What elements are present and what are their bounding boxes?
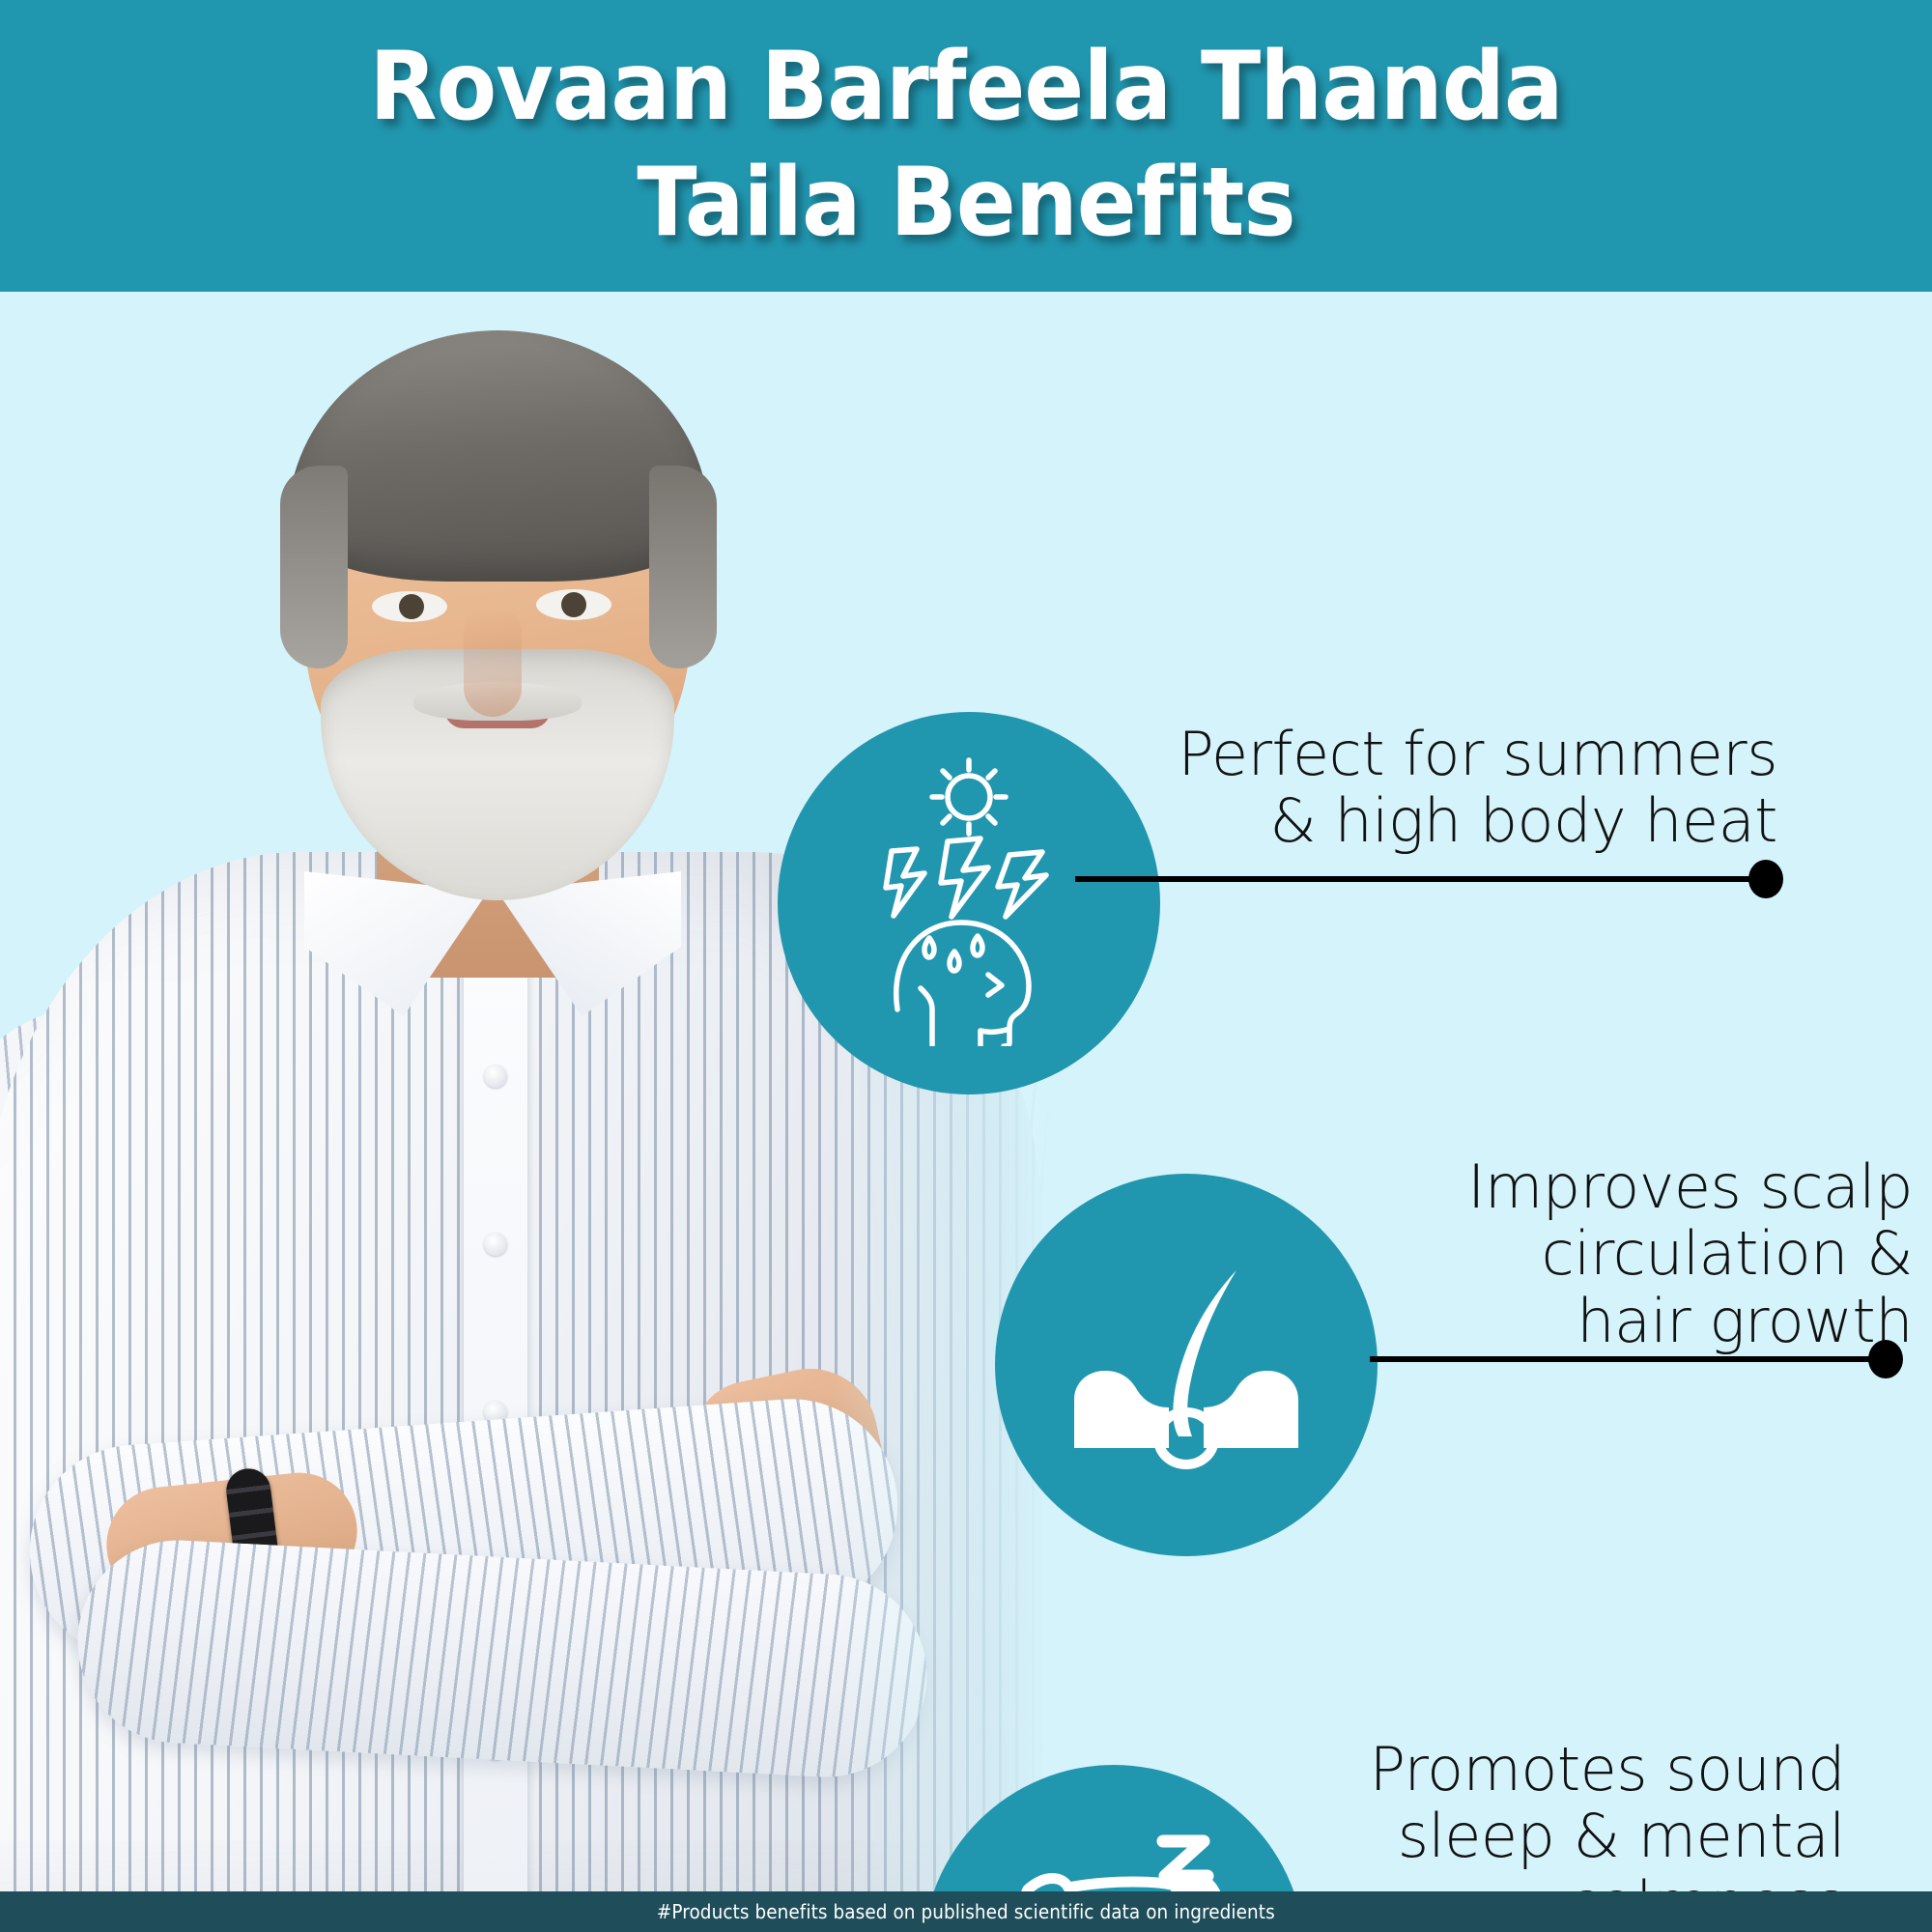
benefit-text-1: Perfect for summers & high body heat <box>995 721 1777 855</box>
hair-side-right <box>649 466 717 668</box>
benefit-connector-line-1 <box>1075 876 1756 882</box>
eye-right <box>536 589 611 620</box>
nose <box>464 611 522 717</box>
photo-bottom-fade <box>0 1779 1101 1891</box>
pupil-right <box>561 592 586 617</box>
header-band: Rovaan Barfeela Thanda Taila Benefits <box>0 0 1932 292</box>
benefit-text-2: Improves scalp circulation & hair growth <box>1111 1153 1913 1354</box>
eye-left <box>372 591 447 622</box>
shirt-button <box>484 1233 507 1256</box>
shirt-button <box>484 1065 507 1088</box>
footer-band: #Products benefits based on published sc… <box>0 1891 1932 1932</box>
benefit-text-3: Promotes sound sleep & mental calmness <box>1043 1736 1845 1891</box>
benefit-connector-line-2 <box>1370 1356 1872 1362</box>
footer-disclaimer: #Products benefits based on published sc… <box>657 1900 1275 1923</box>
hair-side-left <box>280 466 348 668</box>
benefit-connector-dot-1 <box>1748 860 1783 898</box>
hair <box>288 330 709 582</box>
pupil-left <box>399 594 424 619</box>
page-title: Rovaan Barfeela Thanda Taila Benefits <box>283 30 1649 261</box>
benefit-connector-dot-2 <box>1868 1340 1903 1378</box>
content-stage: Perfect for summers & high body heat Imp… <box>0 292 1932 1891</box>
